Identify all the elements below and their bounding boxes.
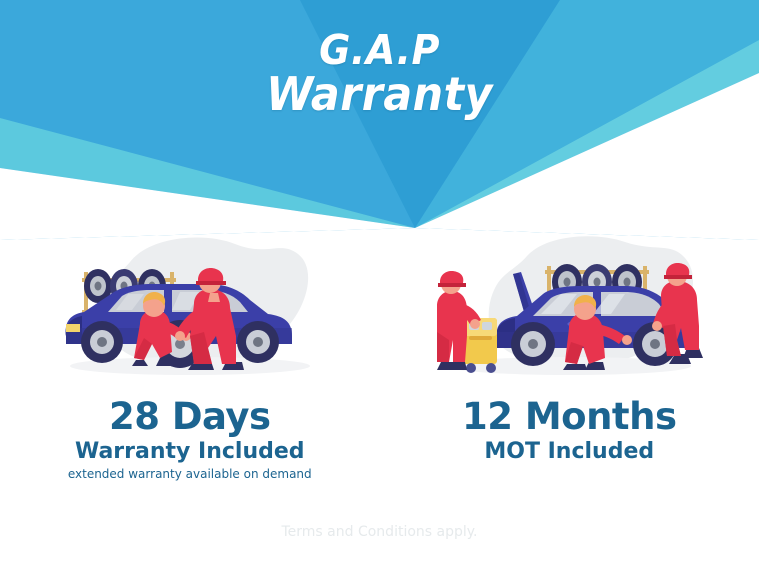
banner-shapes bbox=[0, 0, 759, 240]
note-extended-warranty: extended warranty available on demand bbox=[68, 467, 312, 481]
tyre-change-art bbox=[40, 232, 340, 392]
offer-column-mot: 12 Months MOT Included bbox=[380, 232, 759, 502]
offer-column-warranty: 28 Days Warranty Included extended warra… bbox=[0, 232, 380, 502]
car-service-art bbox=[419, 232, 719, 392]
promo-banner-page: G.A.P Warranty bbox=[0, 0, 759, 569]
headline-12-months: 12 Months bbox=[462, 398, 677, 435]
subhead-mot-included: MOT Included bbox=[484, 439, 654, 464]
subhead-warranty-included: Warranty Included bbox=[75, 439, 305, 464]
tyre-change-illustration bbox=[40, 232, 340, 392]
offer-columns: 28 Days Warranty Included extended warra… bbox=[0, 232, 759, 502]
terms-and-conditions-text: Terms and Conditions apply. bbox=[0, 524, 759, 540]
car-service-illustration bbox=[419, 232, 719, 392]
header-banner: G.A.P Warranty bbox=[0, 0, 759, 240]
car-wheel-front bbox=[81, 321, 123, 363]
headline-28-days: 28 Days bbox=[109, 398, 271, 435]
car-wheel-front bbox=[511, 322, 555, 366]
car-wheel-rear bbox=[237, 321, 279, 363]
